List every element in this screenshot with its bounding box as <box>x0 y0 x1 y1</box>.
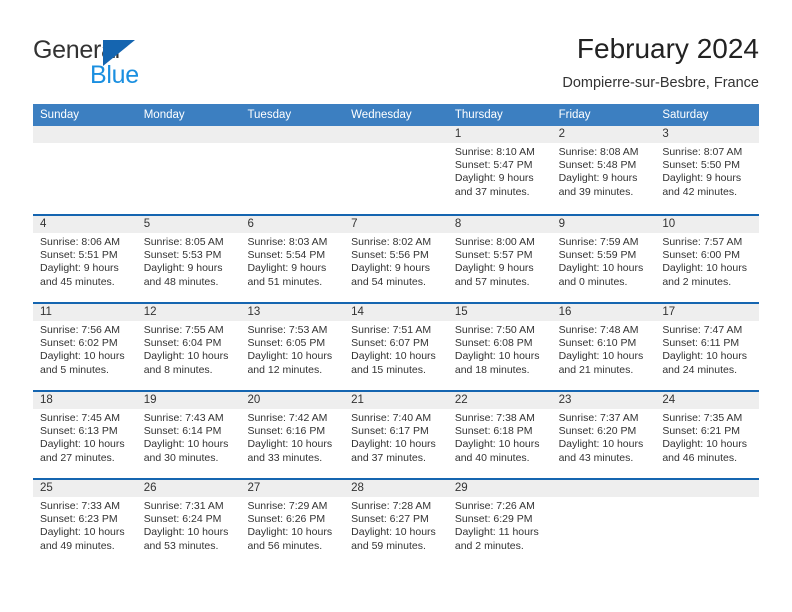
daylight-text-cont: and 45 minutes. <box>40 276 131 289</box>
weekday-header-sunday: Sunday <box>33 104 137 126</box>
calendar-day-cell[interactable]: 11Sunrise: 7:56 AMSunset: 6:02 PMDayligh… <box>33 302 137 390</box>
sunset-text: Sunset: 5:57 PM <box>455 249 546 262</box>
day-number: 1 <box>448 126 552 143</box>
daylight-text: Daylight: 9 hours <box>559 172 650 185</box>
calendar-day-cell[interactable]: 7Sunrise: 8:02 AMSunset: 5:56 PMDaylight… <box>344 214 448 302</box>
calendar-day-cell[interactable]: 6Sunrise: 8:03 AMSunset: 5:54 PMDaylight… <box>240 214 344 302</box>
daylight-text-cont: and 56 minutes. <box>247 540 338 553</box>
sunrise-text: Sunrise: 7:40 AM <box>351 412 442 425</box>
day-sun-info: Sunrise: 7:56 AMSunset: 6:02 PMDaylight:… <box>33 321 137 377</box>
sunset-text: Sunset: 6:02 PM <box>40 337 131 350</box>
day-number: 24 <box>655 392 759 409</box>
calendar-week-row: 18Sunrise: 7:45 AMSunset: 6:13 PMDayligh… <box>33 390 759 478</box>
day-sun-info: Sunrise: 7:31 AMSunset: 6:24 PMDaylight:… <box>137 497 241 553</box>
daylight-text: Daylight: 10 hours <box>559 438 650 451</box>
day-sun-info: Sunrise: 7:47 AMSunset: 6:11 PMDaylight:… <box>655 321 759 377</box>
daylight-text-cont: and 59 minutes. <box>351 540 442 553</box>
daylight-text-cont: and 0 minutes. <box>559 276 650 289</box>
calendar-day-cell-empty <box>655 478 759 566</box>
sunset-text: Sunset: 5:53 PM <box>144 249 235 262</box>
calendar-day-cell[interactable]: 14Sunrise: 7:51 AMSunset: 6:07 PMDayligh… <box>344 302 448 390</box>
day-number <box>655 480 759 497</box>
title-block: February 2024 Dompierre-sur-Besbre, Fran… <box>562 32 759 94</box>
day-number: 26 <box>137 480 241 497</box>
day-number: 22 <box>448 392 552 409</box>
daylight-text: Daylight: 10 hours <box>351 438 442 451</box>
weekday-header-thursday: Thursday <box>448 104 552 126</box>
day-sun-info: Sunrise: 7:51 AMSunset: 6:07 PMDaylight:… <box>344 321 448 377</box>
daylight-text: Daylight: 10 hours <box>40 438 131 451</box>
general-blue-logo[interactable]: General Blue <box>33 36 253 88</box>
calendar-week-row: 4Sunrise: 8:06 AMSunset: 5:51 PMDaylight… <box>33 214 759 302</box>
sunrise-text: Sunrise: 7:26 AM <box>455 500 546 513</box>
day-number: 25 <box>33 480 137 497</box>
sunrise-text: Sunrise: 7:28 AM <box>351 500 442 513</box>
day-sun-info: Sunrise: 8:03 AMSunset: 5:54 PMDaylight:… <box>240 233 344 289</box>
daylight-text: Daylight: 10 hours <box>559 262 650 275</box>
daylight-text: Daylight: 9 hours <box>455 262 546 275</box>
sunset-text: Sunset: 5:50 PM <box>662 159 753 172</box>
sunrise-text: Sunrise: 7:42 AM <box>247 412 338 425</box>
sunset-text: Sunset: 6:13 PM <box>40 425 131 438</box>
calendar-day-cell[interactable]: 23Sunrise: 7:37 AMSunset: 6:20 PMDayligh… <box>552 390 656 478</box>
calendar-day-cell[interactable]: 5Sunrise: 8:05 AMSunset: 5:53 PMDaylight… <box>137 214 241 302</box>
calendar-day-cell[interactable]: 24Sunrise: 7:35 AMSunset: 6:21 PMDayligh… <box>655 390 759 478</box>
sunrise-text: Sunrise: 8:03 AM <box>247 236 338 249</box>
sunset-text: Sunset: 6:18 PM <box>455 425 546 438</box>
day-sun-info: Sunrise: 7:29 AMSunset: 6:26 PMDaylight:… <box>240 497 344 553</box>
day-number: 18 <box>33 392 137 409</box>
daylight-text-cont: and 49 minutes. <box>40 540 131 553</box>
sunset-text: Sunset: 5:56 PM <box>351 249 442 262</box>
daylight-text: Daylight: 10 hours <box>144 438 235 451</box>
daylight-text: Daylight: 10 hours <box>351 350 442 363</box>
daylight-text-cont: and 53 minutes. <box>144 540 235 553</box>
day-number: 14 <box>344 304 448 321</box>
daylight-text-cont: and 57 minutes. <box>455 276 546 289</box>
daylight-text: Daylight: 9 hours <box>662 172 753 185</box>
day-number: 11 <box>33 304 137 321</box>
day-sun-info: Sunrise: 7:43 AMSunset: 6:14 PMDaylight:… <box>137 409 241 465</box>
sunrise-text: Sunrise: 7:57 AM <box>662 236 753 249</box>
weekday-header-row: SundayMondayTuesdayWednesdayThursdayFrid… <box>33 104 759 126</box>
weekday-header-saturday: Saturday <box>655 104 759 126</box>
daylight-text: Daylight: 10 hours <box>662 262 753 275</box>
sunrise-text: Sunrise: 7:56 AM <box>40 324 131 337</box>
day-sun-info: Sunrise: 7:38 AMSunset: 6:18 PMDaylight:… <box>448 409 552 465</box>
sunrise-text: Sunrise: 8:00 AM <box>455 236 546 249</box>
sunrise-text: Sunrise: 7:31 AM <box>144 500 235 513</box>
daylight-text-cont: and 42 minutes. <box>662 186 753 199</box>
day-number: 13 <box>240 304 344 321</box>
day-sun-info: Sunrise: 7:33 AMSunset: 6:23 PMDaylight:… <box>33 497 137 553</box>
calendar-day-cell[interactable]: 18Sunrise: 7:45 AMSunset: 6:13 PMDayligh… <box>33 390 137 478</box>
daylight-text: Daylight: 10 hours <box>247 438 338 451</box>
day-number: 29 <box>448 480 552 497</box>
sunset-text: Sunset: 6:07 PM <box>351 337 442 350</box>
sunset-text: Sunset: 5:54 PM <box>247 249 338 262</box>
sunset-text: Sunset: 6:21 PM <box>662 425 753 438</box>
daylight-text-cont: and 18 minutes. <box>455 364 546 377</box>
calendar-page: General Blue February 2024 Dompierre-sur… <box>0 0 792 612</box>
daylight-text-cont: and 24 minutes. <box>662 364 753 377</box>
calendar-day-cell-empty <box>240 126 344 214</box>
sunset-text: Sunset: 6:04 PM <box>144 337 235 350</box>
sunrise-text: Sunrise: 7:33 AM <box>40 500 131 513</box>
day-sun-info: Sunrise: 8:06 AMSunset: 5:51 PMDaylight:… <box>33 233 137 289</box>
day-number: 10 <box>655 216 759 233</box>
daylight-text: Daylight: 10 hours <box>351 526 442 539</box>
sunrise-text: Sunrise: 8:08 AM <box>559 146 650 159</box>
daylight-text: Daylight: 10 hours <box>144 350 235 363</box>
sunset-text: Sunset: 6:26 PM <box>247 513 338 526</box>
day-number: 28 <box>344 480 448 497</box>
calendar-day-cell[interactable]: 10Sunrise: 7:57 AMSunset: 6:00 PMDayligh… <box>655 214 759 302</box>
daylight-text-cont: and 43 minutes. <box>559 452 650 465</box>
calendar-day-cell[interactable]: 15Sunrise: 7:50 AMSunset: 6:08 PMDayligh… <box>448 302 552 390</box>
daylight-text-cont: and 21 minutes. <box>559 364 650 377</box>
daylight-text: Daylight: 9 hours <box>351 262 442 275</box>
sunrise-text: Sunrise: 8:10 AM <box>455 146 546 159</box>
sunset-text: Sunset: 6:00 PM <box>662 249 753 262</box>
daylight-text-cont: and 2 minutes. <box>455 540 546 553</box>
daylight-text-cont: and 12 minutes. <box>247 364 338 377</box>
calendar-day-cell[interactable]: 22Sunrise: 7:38 AMSunset: 6:18 PMDayligh… <box>448 390 552 478</box>
sunset-text: Sunset: 6:08 PM <box>455 337 546 350</box>
calendar-day-cell-empty <box>33 126 137 214</box>
page-subtitle: Dompierre-sur-Besbre, France <box>562 72 759 94</box>
day-sun-info: Sunrise: 7:55 AMSunset: 6:04 PMDaylight:… <box>137 321 241 377</box>
weekday-header-friday: Friday <box>552 104 656 126</box>
day-sun-info: Sunrise: 8:02 AMSunset: 5:56 PMDaylight:… <box>344 233 448 289</box>
daylight-text-cont: and 8 minutes. <box>144 364 235 377</box>
daylight-text-cont: and 54 minutes. <box>351 276 442 289</box>
calendar-day-cell[interactable]: 9Sunrise: 7:59 AMSunset: 5:59 PMDaylight… <box>552 214 656 302</box>
daylight-text-cont: and 15 minutes. <box>351 364 442 377</box>
calendar-day-cell-empty <box>552 478 656 566</box>
daylight-text: Daylight: 9 hours <box>247 262 338 275</box>
sunset-text: Sunset: 5:59 PM <box>559 249 650 262</box>
sunrise-text: Sunrise: 7:48 AM <box>559 324 650 337</box>
sunset-text: Sunset: 6:16 PM <box>247 425 338 438</box>
daylight-text: Daylight: 10 hours <box>40 526 131 539</box>
day-sun-info: Sunrise: 7:26 AMSunset: 6:29 PMDaylight:… <box>448 497 552 553</box>
sunset-text: Sunset: 6:24 PM <box>144 513 235 526</box>
day-number: 2 <box>552 126 656 143</box>
calendar-week-row: 1Sunrise: 8:10 AMSunset: 5:47 PMDaylight… <box>33 126 759 214</box>
day-number: 7 <box>344 216 448 233</box>
sunset-text: Sunset: 5:48 PM <box>559 159 650 172</box>
sunset-text: Sunset: 6:11 PM <box>662 337 753 350</box>
daylight-text-cont: and 46 minutes. <box>662 452 753 465</box>
day-number: 3 <box>655 126 759 143</box>
calendar-day-cell[interactable]: 2Sunrise: 8:08 AMSunset: 5:48 PMDaylight… <box>552 126 656 214</box>
daylight-text: Daylight: 10 hours <box>662 350 753 363</box>
day-sun-info: Sunrise: 7:35 AMSunset: 6:21 PMDaylight:… <box>655 409 759 465</box>
daylight-text-cont: and 37 minutes. <box>351 452 442 465</box>
day-sun-info: Sunrise: 7:42 AMSunset: 6:16 PMDaylight:… <box>240 409 344 465</box>
day-sun-info: Sunrise: 8:07 AMSunset: 5:50 PMDaylight:… <box>655 143 759 199</box>
calendar-day-cell[interactable]: 3Sunrise: 8:07 AMSunset: 5:50 PMDaylight… <box>655 126 759 214</box>
daylight-text: Daylight: 10 hours <box>455 438 546 451</box>
sunrise-text: Sunrise: 7:29 AM <box>247 500 338 513</box>
sunrise-text: Sunrise: 7:55 AM <box>144 324 235 337</box>
calendar-day-cell-empty <box>137 126 241 214</box>
sunrise-text: Sunrise: 7:51 AM <box>351 324 442 337</box>
day-sun-info: Sunrise: 7:57 AMSunset: 6:00 PMDaylight:… <box>655 233 759 289</box>
calendar-day-cell[interactable]: 26Sunrise: 7:31 AMSunset: 6:24 PMDayligh… <box>137 478 241 566</box>
daylight-text: Daylight: 10 hours <box>144 526 235 539</box>
calendar-day-cell[interactable]: 8Sunrise: 8:00 AMSunset: 5:57 PMDaylight… <box>448 214 552 302</box>
page-title: February 2024 <box>562 32 759 66</box>
daylight-text-cont: and 27 minutes. <box>40 452 131 465</box>
sunset-text: Sunset: 6:20 PM <box>559 425 650 438</box>
sunrise-text: Sunrise: 8:02 AM <box>351 236 442 249</box>
calendar-day-cell-empty <box>344 126 448 214</box>
day-sun-info: Sunrise: 7:45 AMSunset: 6:13 PMDaylight:… <box>33 409 137 465</box>
day-number: 19 <box>137 392 241 409</box>
day-sun-info: Sunrise: 7:40 AMSunset: 6:17 PMDaylight:… <box>344 409 448 465</box>
calendar-day-cell[interactable]: 4Sunrise: 8:06 AMSunset: 5:51 PMDaylight… <box>33 214 137 302</box>
calendar-day-cell[interactable]: 29Sunrise: 7:26 AMSunset: 6:29 PMDayligh… <box>448 478 552 566</box>
day-sun-info: Sunrise: 8:08 AMSunset: 5:48 PMDaylight:… <box>552 143 656 199</box>
calendar-day-cell[interactable]: 28Sunrise: 7:28 AMSunset: 6:27 PMDayligh… <box>344 478 448 566</box>
daylight-text-cont: and 48 minutes. <box>144 276 235 289</box>
daylight-text: Daylight: 10 hours <box>247 526 338 539</box>
calendar-day-cell[interactable]: 27Sunrise: 7:29 AMSunset: 6:26 PMDayligh… <box>240 478 344 566</box>
sunset-text: Sunset: 5:47 PM <box>455 159 546 172</box>
calendar-week-row: 25Sunrise: 7:33 AMSunset: 6:23 PMDayligh… <box>33 478 759 566</box>
sunset-text: Sunset: 6:17 PM <box>351 425 442 438</box>
sunrise-text: Sunrise: 7:50 AM <box>455 324 546 337</box>
day-number: 6 <box>240 216 344 233</box>
day-number <box>344 126 448 143</box>
daylight-text: Daylight: 9 hours <box>455 172 546 185</box>
calendar-day-cell[interactable]: 1Sunrise: 8:10 AMSunset: 5:47 PMDaylight… <box>448 126 552 214</box>
day-sun-info: Sunrise: 7:53 AMSunset: 6:05 PMDaylight:… <box>240 321 344 377</box>
daylight-text: Daylight: 10 hours <box>559 350 650 363</box>
day-number <box>137 126 241 143</box>
day-sun-info: Sunrise: 7:50 AMSunset: 6:08 PMDaylight:… <box>448 321 552 377</box>
sunset-text: Sunset: 6:29 PM <box>455 513 546 526</box>
calendar-day-cell[interactable]: 17Sunrise: 7:47 AMSunset: 6:11 PMDayligh… <box>655 302 759 390</box>
day-number: 12 <box>137 304 241 321</box>
sunset-text: Sunset: 6:23 PM <box>40 513 131 526</box>
day-number: 15 <box>448 304 552 321</box>
day-number: 5 <box>137 216 241 233</box>
page-header: General Blue February 2024 Dompierre-sur… <box>0 0 792 104</box>
day-number <box>240 126 344 143</box>
sunset-text: Sunset: 6:10 PM <box>559 337 650 350</box>
daylight-text: Daylight: 9 hours <box>40 262 131 275</box>
sunset-text: Sunset: 6:05 PM <box>247 337 338 350</box>
daylight-text: Daylight: 10 hours <box>40 350 131 363</box>
day-sun-info: Sunrise: 7:59 AMSunset: 5:59 PMDaylight:… <box>552 233 656 289</box>
daylight-text-cont: and 5 minutes. <box>40 364 131 377</box>
calendar-week-row: 11Sunrise: 7:56 AMSunset: 6:02 PMDayligh… <box>33 302 759 390</box>
daylight-text-cont: and 40 minutes. <box>455 452 546 465</box>
weekday-header-wednesday: Wednesday <box>344 104 448 126</box>
calendar-day-cell[interactable]: 12Sunrise: 7:55 AMSunset: 6:04 PMDayligh… <box>137 302 241 390</box>
daylight-text: Daylight: 9 hours <box>144 262 235 275</box>
sunrise-text: Sunrise: 7:45 AM <box>40 412 131 425</box>
day-number: 8 <box>448 216 552 233</box>
weekday-header-monday: Monday <box>137 104 241 126</box>
day-sun-info: Sunrise: 7:48 AMSunset: 6:10 PMDaylight:… <box>552 321 656 377</box>
sunrise-text: Sunrise: 7:37 AM <box>559 412 650 425</box>
calendar-weeks: 1Sunrise: 8:10 AMSunset: 5:47 PMDaylight… <box>33 126 759 566</box>
daylight-text-cont: and 37 minutes. <box>455 186 546 199</box>
day-sun-info: Sunrise: 8:10 AMSunset: 5:47 PMDaylight:… <box>448 143 552 199</box>
calendar-day-cell[interactable]: 19Sunrise: 7:43 AMSunset: 6:14 PMDayligh… <box>137 390 241 478</box>
day-sun-info: Sunrise: 7:28 AMSunset: 6:27 PMDaylight:… <box>344 497 448 553</box>
sunset-text: Sunset: 5:51 PM <box>40 249 131 262</box>
sunrise-text: Sunrise: 7:43 AM <box>144 412 235 425</box>
calendar-grid: SundayMondayTuesdayWednesdayThursdayFrid… <box>33 104 759 566</box>
daylight-text-cont: and 33 minutes. <box>247 452 338 465</box>
daylight-text-cont: and 51 minutes. <box>247 276 338 289</box>
day-sun-info: Sunrise: 7:37 AMSunset: 6:20 PMDaylight:… <box>552 409 656 465</box>
day-number: 23 <box>552 392 656 409</box>
day-number: 9 <box>552 216 656 233</box>
day-sun-info: Sunrise: 8:05 AMSunset: 5:53 PMDaylight:… <box>137 233 241 289</box>
calendar-day-cell[interactable]: 13Sunrise: 7:53 AMSunset: 6:05 PMDayligh… <box>240 302 344 390</box>
sunrise-text: Sunrise: 8:07 AM <box>662 146 753 159</box>
daylight-text-cont: and 39 minutes. <box>559 186 650 199</box>
daylight-text: Daylight: 10 hours <box>247 350 338 363</box>
calendar-day-cell[interactable]: 21Sunrise: 7:40 AMSunset: 6:17 PMDayligh… <box>344 390 448 478</box>
daylight-text-cont: and 2 minutes. <box>662 276 753 289</box>
sunrise-text: Sunrise: 8:06 AM <box>40 236 131 249</box>
day-sun-info: Sunrise: 8:00 AMSunset: 5:57 PMDaylight:… <box>448 233 552 289</box>
sunrise-text: Sunrise: 7:59 AM <box>559 236 650 249</box>
daylight-text-cont: and 30 minutes. <box>144 452 235 465</box>
day-number: 4 <box>33 216 137 233</box>
day-number: 16 <box>552 304 656 321</box>
calendar-day-cell[interactable]: 25Sunrise: 7:33 AMSunset: 6:23 PMDayligh… <box>33 478 137 566</box>
sunrise-text: Sunrise: 8:05 AM <box>144 236 235 249</box>
sunrise-text: Sunrise: 7:47 AM <box>662 324 753 337</box>
day-number <box>552 480 656 497</box>
logo-text-blue: Blue <box>90 61 139 90</box>
day-number <box>33 126 137 143</box>
day-number: 17 <box>655 304 759 321</box>
daylight-text: Daylight: 10 hours <box>662 438 753 451</box>
day-number: 21 <box>344 392 448 409</box>
sunset-text: Sunset: 6:14 PM <box>144 425 235 438</box>
day-number: 27 <box>240 480 344 497</box>
weekday-header-tuesday: Tuesday <box>240 104 344 126</box>
day-number: 20 <box>240 392 344 409</box>
calendar-day-cell[interactable]: 20Sunrise: 7:42 AMSunset: 6:16 PMDayligh… <box>240 390 344 478</box>
sunrise-text: Sunrise: 7:35 AM <box>662 412 753 425</box>
sunrise-text: Sunrise: 7:53 AM <box>247 324 338 337</box>
calendar-day-cell[interactable]: 16Sunrise: 7:48 AMSunset: 6:10 PMDayligh… <box>552 302 656 390</box>
daylight-text: Daylight: 11 hours <box>455 526 546 539</box>
sunset-text: Sunset: 6:27 PM <box>351 513 442 526</box>
sunrise-text: Sunrise: 7:38 AM <box>455 412 546 425</box>
daylight-text: Daylight: 10 hours <box>455 350 546 363</box>
